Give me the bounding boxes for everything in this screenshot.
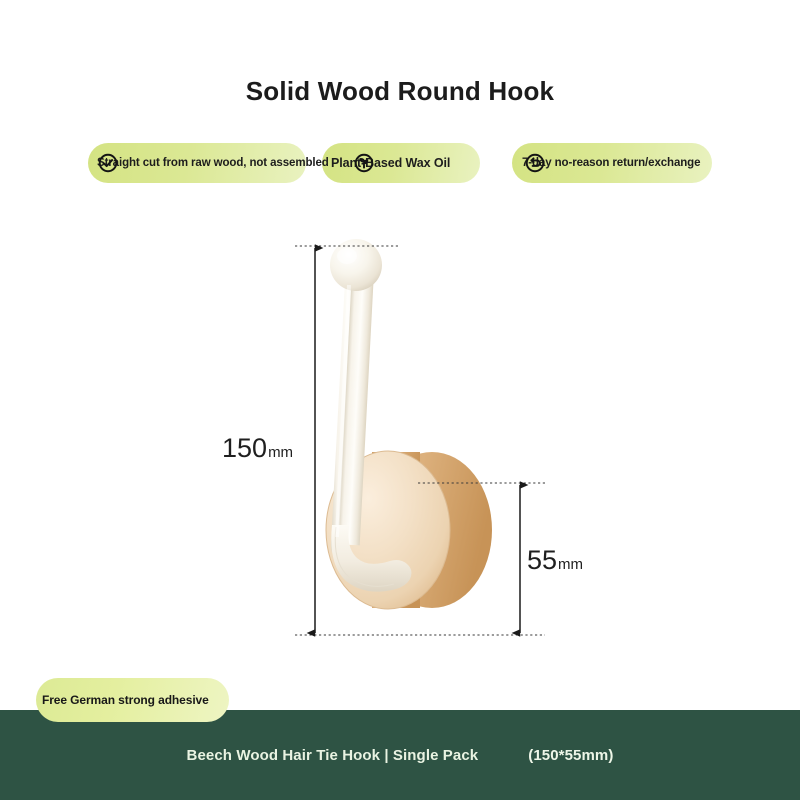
dimension-label-width: 55mm [527, 545, 583, 576]
feature-badge-2: Plant-Based Wax Oil [322, 143, 480, 183]
feature-badge-row: Straight cut from raw wood, not assemble… [0, 143, 800, 189]
dimension-height-value: 150 [222, 433, 267, 464]
feature-badge-1: Straight cut from raw wood, not assemble… [88, 143, 306, 183]
footer-content: Beech Wood Hair Tie Hook | Single Pack (… [0, 710, 800, 800]
adhesive-badge: Free German strong adhesive [36, 678, 229, 722]
footer-product-name: Beech Wood Hair Tie Hook | Single Pack [187, 747, 479, 764]
page-title: Solid Wood Round Hook [0, 76, 800, 107]
dimension-label-height: 150mm [222, 433, 293, 464]
circle-check-icon [97, 152, 119, 174]
dimension-width-value: 55 [527, 545, 557, 576]
dimension-height-unit: mm [268, 444, 293, 461]
feature-badge-2-label: Plant-Based Wax Oil [331, 156, 450, 170]
footer-product-size: (150*55mm) [528, 747, 613, 764]
adhesive-badge-label: Free German strong adhesive [42, 693, 209, 707]
infographic-canvas: Solid Wood Round Hook Straight cut from … [0, 0, 800, 800]
product-illustration [250, 225, 570, 655]
feature-badge-3-label: 7-day no-reason return/exchange [522, 157, 700, 169]
circle-return-icon [524, 152, 546, 174]
feature-badge-1-label: Straight cut from raw wood, not assemble… [97, 157, 329, 169]
dimension-width-unit: mm [558, 556, 583, 573]
circle-leaf-icon [353, 152, 375, 174]
feature-badge-3: 7-day no-reason return/exchange [512, 143, 712, 183]
product-footer-bar: Beech Wood Hair Tie Hook | Single Pack (… [0, 710, 800, 800]
